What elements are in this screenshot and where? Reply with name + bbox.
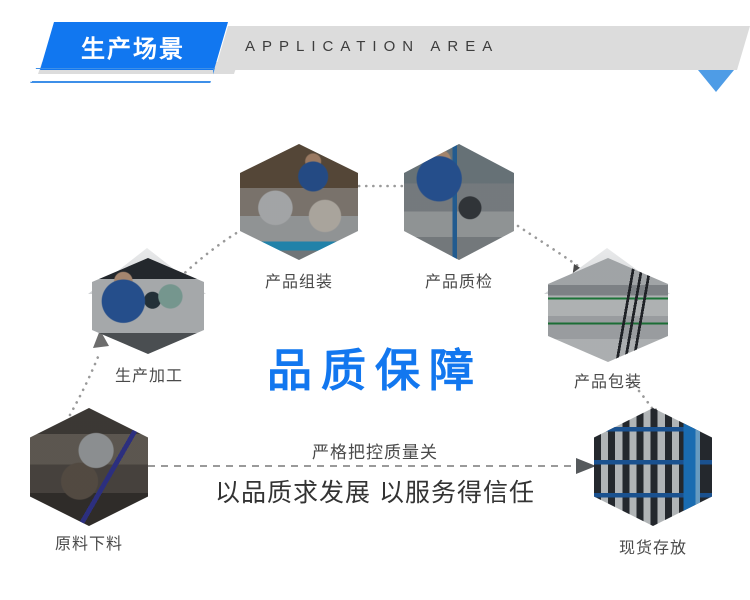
flow-node-packaging[interactable] [548, 258, 668, 362]
page-header: 生产场景 APPLICATION AREA [0, 0, 750, 100]
flow-label-inspect: 产品质检 [354, 268, 564, 292]
center-headline: 品质保障 [0, 348, 750, 393]
flow-node-assembly[interactable] [240, 144, 358, 260]
header-blue-tab: 生产场景 [40, 22, 228, 70]
connector-inspect-to-packaging [512, 222, 578, 266]
header-outline-parallelogram [30, 68, 215, 83]
product-assembly-photo [240, 144, 358, 260]
flow-node-inspect[interactable] [404, 144, 514, 260]
flow-node-machining[interactable] [92, 258, 204, 354]
cnc-machining-photo [92, 258, 204, 354]
product-packaging-photo [548, 258, 668, 362]
header-tab-label: 生产场景 [81, 29, 185, 64]
flow-label-storage: 现货存放 [548, 534, 750, 558]
flow-label-material: 原料下料 [0, 530, 194, 554]
header-subtitle-en: APPLICATION AREA [245, 38, 499, 55]
quality-inspection-photo [404, 144, 514, 260]
center-subline-2: 以品质求发展 以服务得信任 [0, 473, 750, 509]
center-subline-1: 严格把控质量关 [0, 438, 750, 463]
triangle-down-icon [698, 70, 734, 92]
